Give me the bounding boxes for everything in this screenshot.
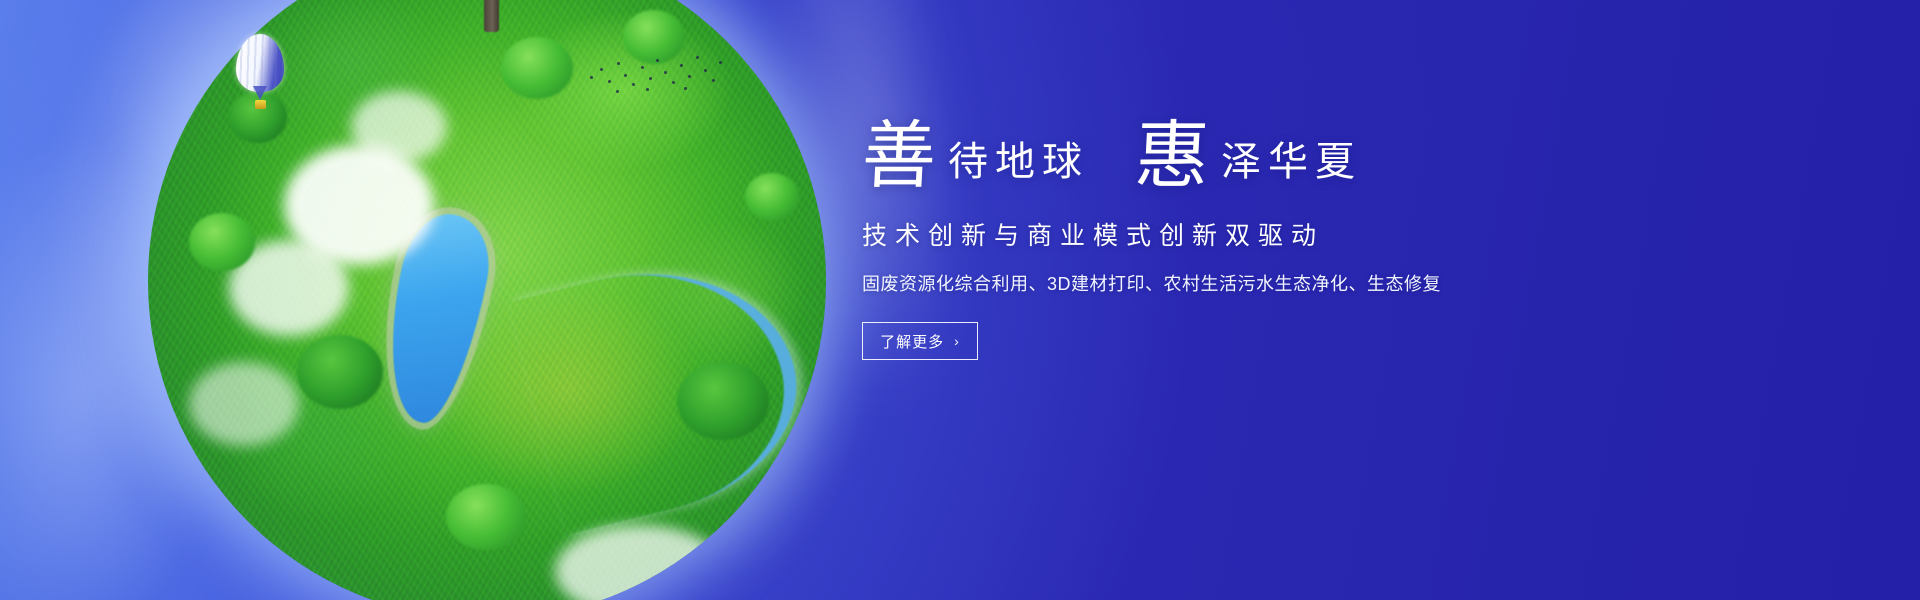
hot-air-balloon-icon xyxy=(236,34,284,112)
headline-small-text-1: 待地球 xyxy=(948,142,1089,182)
banner-description: 固废资源化综合利用、3D建材打印、农村生活污水生态净化、生态修复 xyxy=(862,270,1622,296)
tree-icon xyxy=(297,335,383,409)
balloon-cone xyxy=(253,86,267,100)
balloon-envelope xyxy=(236,34,284,92)
foreground-tree-trunk xyxy=(484,0,499,32)
banner-content: 善 待地球 惠 泽华夏 技术创新与商业模式创新双驱动 固废资源化综合利用、3D建… xyxy=(862,120,1622,360)
banner-subtitle: 技术创新与商业模式创新双驱动 xyxy=(862,216,1622,252)
hero-banner: 善 待地球 惠 泽华夏 技术创新与商业模式创新双驱动 固废资源化综合利用、3D建… xyxy=(0,0,1920,600)
balloon-basket xyxy=(255,100,266,109)
headline-small-text-2: 泽华夏 xyxy=(1221,142,1362,182)
headline-big-char-1: 善 xyxy=(860,120,938,194)
tree-icon xyxy=(677,362,769,440)
headline-big-char-2: 惠 xyxy=(1133,120,1211,194)
learn-more-button[interactable]: 了解更多 › xyxy=(862,322,978,360)
cloud-icon xyxy=(189,362,299,446)
cloud-icon xyxy=(351,91,447,163)
tree-icon xyxy=(745,173,799,221)
learn-more-label: 了解更多 xyxy=(880,331,944,352)
headline: 善 待地球 惠 泽华夏 xyxy=(862,120,1622,194)
tree-icon xyxy=(189,213,255,271)
tree-icon xyxy=(501,37,573,99)
bird-flock-icon xyxy=(586,50,726,96)
chevron-right-icon: › xyxy=(954,334,960,348)
